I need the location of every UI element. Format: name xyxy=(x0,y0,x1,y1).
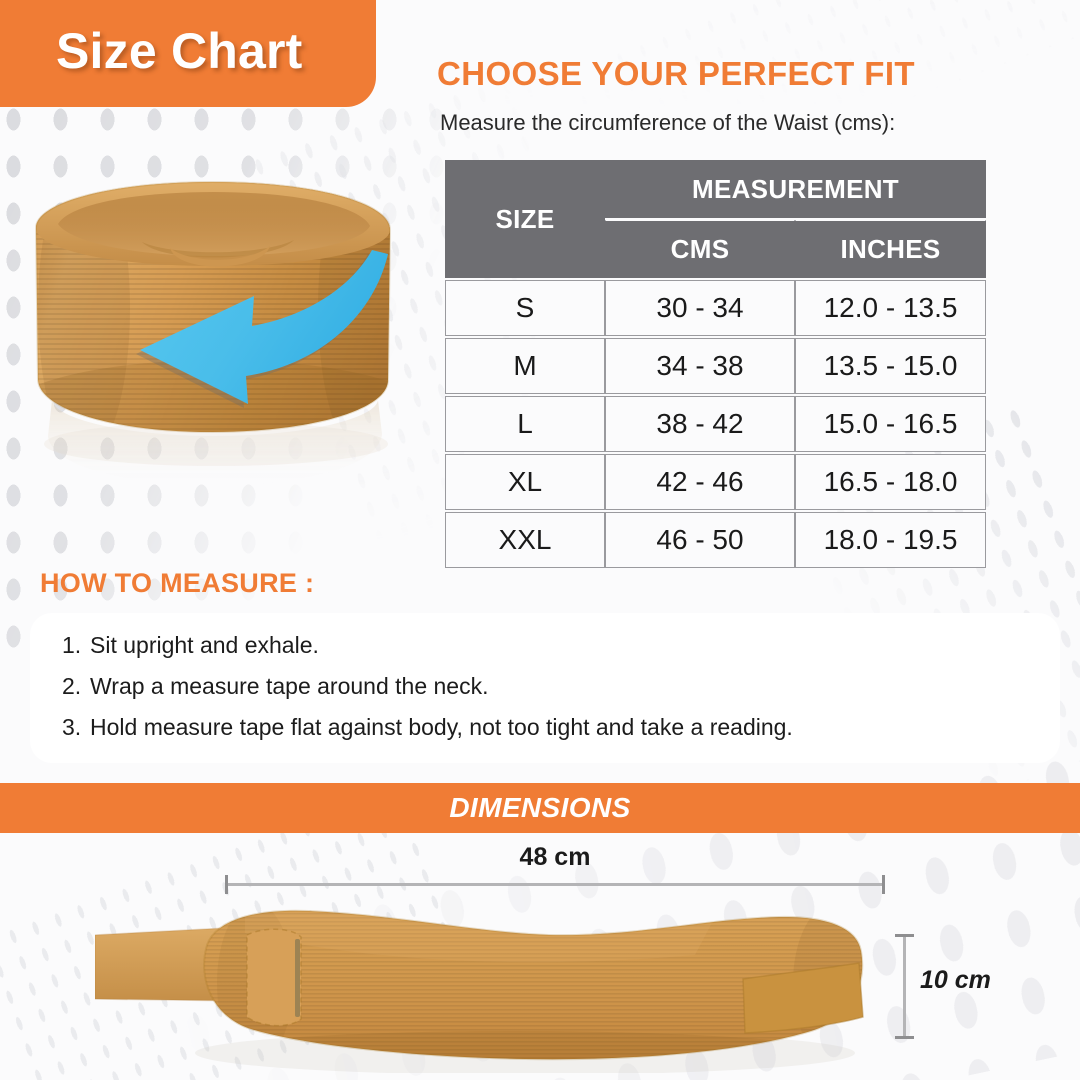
cell-size: M xyxy=(445,338,605,394)
how-to-measure-title: HOW TO MEASURE : xyxy=(40,568,314,599)
table-row: S 30 - 34 12.0 - 13.5 xyxy=(445,280,986,336)
cell-inches: 18.0 - 19.5 xyxy=(795,512,986,568)
cell-cms: 42 - 46 xyxy=(605,454,795,510)
table-body: S 30 - 34 12.0 - 13.5 M 34 - 38 13.5 - 1… xyxy=(445,280,986,568)
cervical-collar-flat-illustration xyxy=(95,893,905,1073)
cell-inches: 16.5 - 18.0 xyxy=(795,454,986,510)
width-dimension-line xyxy=(225,883,885,886)
cell-cms: 38 - 42 xyxy=(605,396,795,452)
size-chart-table: SIZE MEASUREMENT CMS INCHES S 30 - 34 12… xyxy=(445,158,986,570)
list-item: 1. Sit upright and exhale. xyxy=(62,625,1052,666)
cell-size: XXL xyxy=(445,512,605,568)
cell-size: S xyxy=(445,280,605,336)
dimensions-banner: DIMENSIONS xyxy=(0,783,1080,833)
strap-attachment-tab xyxy=(247,929,301,1025)
list-item: 3. Hold measure tape flat against body, … xyxy=(62,707,1052,748)
list-item-text: Wrap a measure tape around the neck. xyxy=(90,666,488,707)
dimensions-banner-label: DIMENSIONS xyxy=(0,792,1080,824)
cervical-collar-worn-image xyxy=(22,168,426,518)
page-title: Size Chart xyxy=(56,22,303,80)
cervical-collar-flat-image xyxy=(95,893,905,1073)
headline: CHOOSE YOUR PERFECT FIT xyxy=(437,55,915,93)
table-row: M 34 - 38 13.5 - 15.0 xyxy=(445,338,986,394)
list-item-number: 2. xyxy=(62,666,90,707)
cell-size: L xyxy=(445,396,605,452)
cell-cms: 30 - 34 xyxy=(605,280,795,336)
height-dimension-line xyxy=(903,934,906,1039)
cell-size: XL xyxy=(445,454,605,510)
list-item-text: Sit upright and exhale. xyxy=(90,625,319,666)
list-item: 2. Wrap a measure tape around the neck. xyxy=(62,666,1052,707)
height-dimension-label: 10 cm xyxy=(920,966,991,995)
subheadline: Measure the circumference of the Waist (… xyxy=(440,110,895,136)
th-measurement: MEASUREMENT xyxy=(605,160,986,218)
th-inches: INCHES xyxy=(795,220,986,278)
title-banner: Size Chart xyxy=(0,0,376,107)
cell-inches: 13.5 - 15.0 xyxy=(795,338,986,394)
table-header: SIZE MEASUREMENT CMS INCHES xyxy=(445,160,986,278)
list-item-text: Hold measure tape flat against body, not… xyxy=(90,707,793,748)
cervical-collar-illustration xyxy=(22,168,426,518)
cell-cms: 46 - 50 xyxy=(605,512,795,568)
width-dimension-label: 48 cm xyxy=(225,843,885,872)
cell-inches: 12.0 - 13.5 xyxy=(795,280,986,336)
size-chart-page: Size Chart xyxy=(0,0,1080,1080)
table-row: XL 42 - 46 16.5 - 18.0 xyxy=(445,454,986,510)
list-item-number: 1. xyxy=(62,625,90,666)
table-row: XXL 46 - 50 18.0 - 19.5 xyxy=(445,512,986,568)
cell-cms: 34 - 38 xyxy=(605,338,795,394)
cell-inches: 15.0 - 16.5 xyxy=(795,396,986,452)
th-cms: CMS xyxy=(605,220,795,278)
th-size: SIZE xyxy=(445,160,605,278)
list-item-number: 3. xyxy=(62,707,90,748)
table-row: L 38 - 42 15.0 - 16.5 xyxy=(445,396,986,452)
how-to-measure-list: 1. Sit upright and exhale. 2. Wrap a mea… xyxy=(62,625,1052,748)
